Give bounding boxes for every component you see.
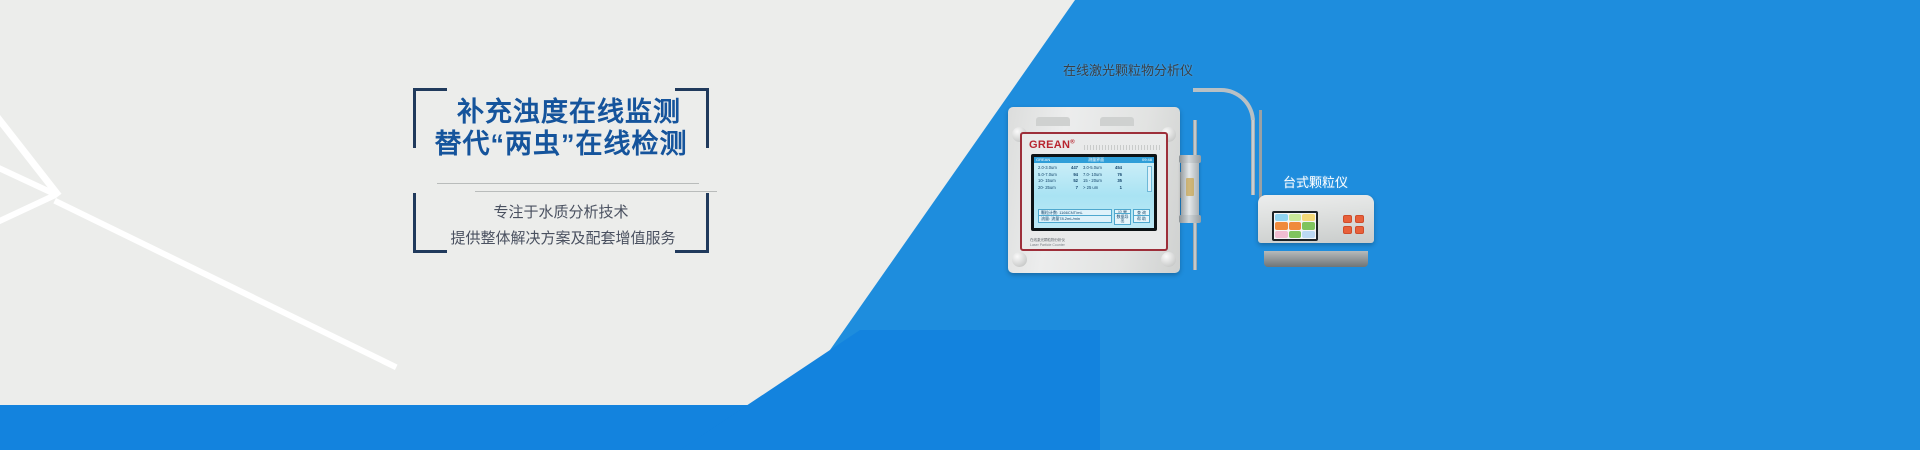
table-row: 10- 15um 52 15 - 20um 35 (1038, 179, 1144, 183)
benchtop-lcd-row (1275, 222, 1315, 229)
headline-block: 补充浊度在线监测 替代“两虫”在线检测 专注于水质分析技术 提供整体解决方案及配… (413, 88, 709, 253)
table-row: 5.0-7.0um 94 7.0- 10um 76 (1038, 173, 1144, 177)
caption-en: Laser Particle Counter (1030, 243, 1065, 248)
benchtop-lcd-content (1274, 213, 1316, 239)
range-b: > 25 um (1080, 186, 1108, 190)
lcd-row-flow: 流量: 流量78.2mL/min 数据导出 帮 助 (1038, 213, 1150, 225)
range-a: 10- 15um (1038, 179, 1064, 183)
lcd-button-export[interactable]: 数据导出 (1114, 213, 1131, 225)
count-a: 52 (1066, 179, 1078, 183)
enclosure-screw-icon (1161, 252, 1176, 267)
subtitle-line-1: 专注于水质分析技术 (413, 200, 709, 226)
flow-field: 流量: 流量78.2mL/min (1038, 215, 1112, 223)
range-a: 2.0-3.0um (1038, 166, 1064, 170)
analyzer-lcd-screen[interactable]: GREAN 测量界面 09:48 2.0-3.0um 447 3.0-5.0um… (1031, 154, 1157, 231)
lcd-titlebar: GREAN 测量界面 09:48 (1034, 157, 1154, 163)
count-b: 76 (1110, 173, 1122, 177)
benchtop-particle-counter (1258, 195, 1374, 267)
optical-sensor-module (1181, 160, 1199, 218)
lcd-scrollbar[interactable] (1147, 166, 1152, 192)
range-a: 20- 25um (1038, 186, 1064, 190)
analyzer-front-panel: GREAN® GREAN 测量界面 09:48 2.0-3.0um 447 3.… (1020, 132, 1168, 251)
lcd-tile (1289, 231, 1302, 238)
keypad-button[interactable] (1343, 226, 1352, 234)
lcd-tile (1289, 222, 1302, 229)
sample-pipe-downlead (1251, 120, 1255, 195)
table-row: 2.0-3.0um 447 3.0-5.0um 454 (1038, 166, 1144, 170)
range-b: 7.0- 10um (1080, 173, 1108, 177)
diagonal-stripe-icon (53, 198, 397, 370)
lcd-tile (1275, 231, 1288, 238)
count-a: 94 (1066, 173, 1078, 177)
brand-trademark: ® (1070, 139, 1075, 145)
blue-bottom-wedge (680, 330, 1100, 450)
range-b: 3.0-5.0um (1080, 166, 1108, 170)
keypad-button[interactable] (1355, 215, 1364, 223)
caption-cn: 在线激光颗粒物分析仪 (1030, 238, 1065, 242)
count-a: 7 (1066, 186, 1078, 190)
sensor-window-icon (1186, 178, 1194, 196)
hero-banner: 补充浊度在线监测 替代“两虫”在线检测 专注于水质分析技术 提供整体解决方案及配… (0, 0, 1920, 450)
count-b: 454 (1110, 166, 1122, 170)
analyzer-model-caption: 在线激光颗粒物分析仪 Laser Particle Counter (1030, 238, 1065, 247)
benchtop-lcd-screen[interactable] (1272, 211, 1318, 241)
count-a: 447 (1066, 166, 1078, 170)
headline-divider (437, 183, 699, 184)
online-laser-particle-analyzer: GREAN® GREAN 测量界面 09:48 2.0-3.0um 447 3.… (1008, 107, 1180, 273)
count-b: 35 (1110, 179, 1122, 183)
lcd-tile (1302, 222, 1315, 229)
lcd-button-help[interactable]: 帮 助 (1133, 215, 1150, 223)
diagonal-stripe-icon (0, 193, 56, 236)
headline-line-2: 替代“两虫”在线检测 (413, 128, 709, 160)
headline-line-1: 补充浊度在线监测 (413, 96, 709, 128)
table-row: 20- 25um 7 > 25 um 1 (1038, 186, 1144, 190)
lcd-content: GREAN 测量界面 09:48 2.0-3.0um 447 3.0-5.0um… (1034, 157, 1154, 228)
subtitle: 专注于水质分析技术 提供整体解决方案及配套增值服务 (413, 200, 709, 252)
enclosure-latch-icon (1100, 117, 1134, 126)
benchtop-base (1264, 251, 1368, 267)
lcd-title-left: GREAN (1036, 158, 1050, 162)
diagonal-stripe-icon (0, 0, 59, 198)
label-benchtop-counter: 台式颗粒仪 (1283, 172, 1348, 191)
lcd-tile (1275, 222, 1288, 229)
lcd-title-right: 09:48 (1142, 158, 1152, 162)
subtitle-line-2: 提供整体解决方案及配套增值服务 (413, 226, 709, 252)
range-a: 5.0-7.0um (1038, 173, 1064, 177)
lcd-measurement-table: 2.0-3.0um 447 3.0-5.0um 454 5.0-7.0um 94… (1038, 166, 1144, 193)
lcd-title-center: 测量界面 (1088, 158, 1104, 162)
benchtop-lcd-row (1275, 214, 1315, 221)
keypad-button[interactable] (1355, 226, 1364, 234)
lcd-tile (1302, 231, 1315, 238)
benchtop-keypad[interactable] (1343, 215, 1364, 234)
enclosure-screw-icon (1012, 252, 1027, 267)
count-b: 1 (1110, 186, 1122, 190)
brand-rule-decoration (1084, 145, 1160, 150)
benchtop-lcd-row (1275, 231, 1315, 238)
connection-cable (1259, 110, 1262, 200)
label-online-analyzer: 在线激光颗粒物分析仪 (1063, 60, 1193, 79)
keypad-button[interactable] (1343, 215, 1352, 223)
enclosure-latch-icon (1036, 117, 1070, 126)
range-b: 15 - 20um (1080, 179, 1108, 183)
lcd-tile (1289, 214, 1302, 221)
lcd-tile (1275, 214, 1288, 221)
lcd-tile (1302, 214, 1315, 221)
brand-logo: GREAN® (1029, 139, 1075, 151)
brand-name: GREAN (1029, 139, 1070, 151)
diagonal-stripe-icon (0, 0, 62, 198)
headline-divider-secondary (475, 191, 717, 192)
headline: 补充浊度在线监测 替代“两虫”在线检测 (413, 96, 709, 160)
